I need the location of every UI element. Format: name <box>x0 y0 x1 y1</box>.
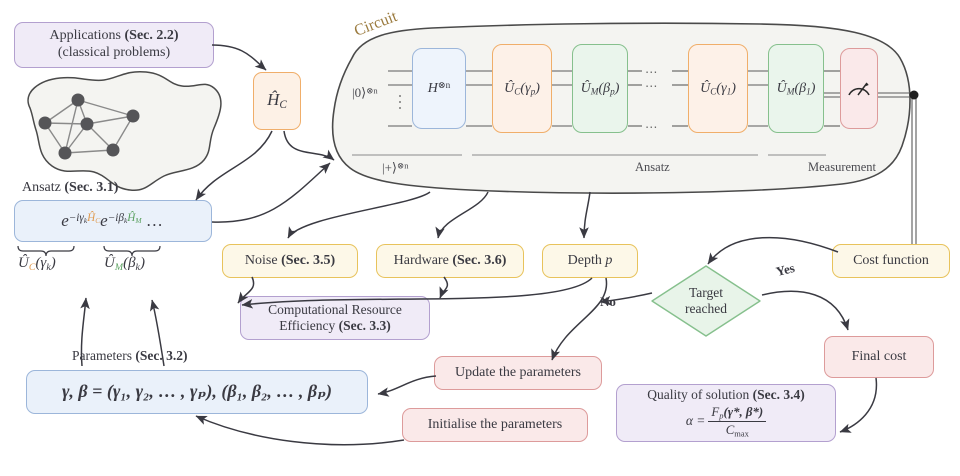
arrows <box>0 0 960 476</box>
diagram-canvas: Circuit |0⟩⊗n <box>0 0 960 476</box>
